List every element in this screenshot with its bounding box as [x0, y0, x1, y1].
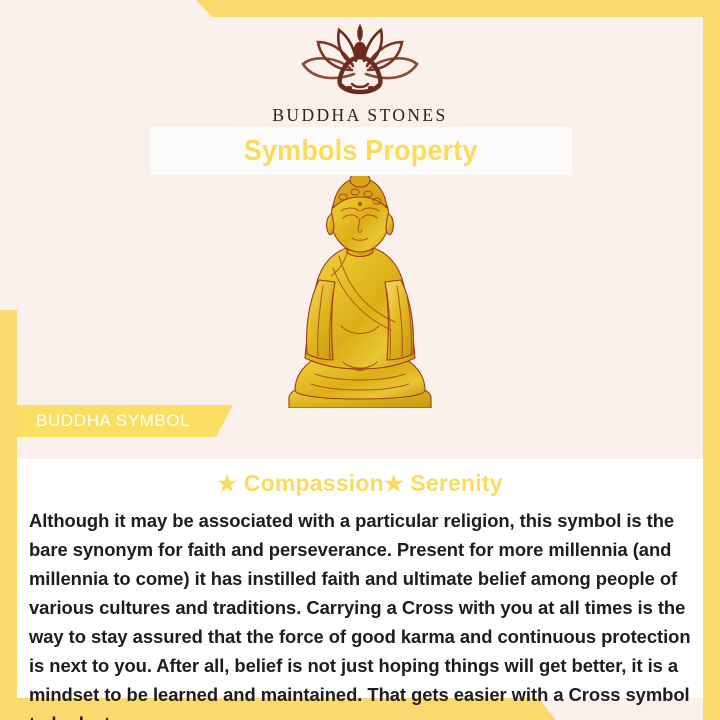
subheading-word-two: Serenity	[410, 470, 502, 496]
decor-top-bar	[0, 0, 720, 17]
title-band: Symbols Property	[150, 127, 572, 175]
subheading-word-one: Compassion	[244, 470, 384, 496]
body-paragraph: Although it may be associated with a par…	[17, 506, 703, 720]
lotus-meditation-icon	[292, 24, 428, 100]
brand-header: BUDDHA STONES	[0, 24, 720, 126]
golden-buddha-statue	[255, 176, 465, 408]
page-title: Symbols Property	[244, 135, 478, 168]
decor-left-bar	[0, 310, 17, 710]
brand-name: BUDDHA STONES	[272, 105, 447, 126]
poster-canvas: BUDDHA STONES Symbols Property	[0, 0, 720, 720]
ribbon-label: BUDDHA SYMBOL	[17, 411, 190, 431]
content-subheading: ★ Compassion★ Serenity	[17, 470, 703, 497]
buddha-symbol-ribbon: BUDDHA SYMBOL	[17, 405, 233, 437]
star-left-icon: ★	[217, 471, 237, 496]
content-card: ★ Compassion★ Serenity Although it may b…	[17, 459, 703, 698]
star-right-icon: ★	[384, 471, 404, 496]
